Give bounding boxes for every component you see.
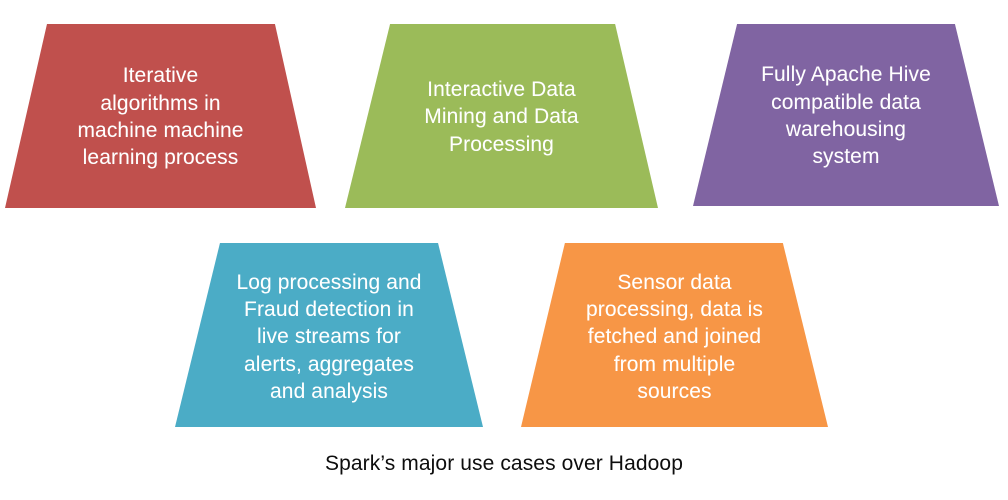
trapezoid-label-hive-warehousing: Fully Apache Hive compatible data wareho…	[755, 61, 937, 170]
trapezoid-sensor-data-processing[interactable]: Sensor data processing, data is fetched …	[521, 243, 828, 427]
trapezoid-label-interactive-data-mining: Interactive Data Mining and Data Process…	[418, 76, 584, 158]
trapezoid-interactive-data-mining[interactable]: Interactive Data Mining and Data Process…	[345, 24, 658, 208]
diagram-caption: Spark’s major use cases over Hadoop	[0, 452, 1008, 476]
trapezoid-label-sensor-data-processing: Sensor data processing, data is fetched …	[580, 269, 769, 405]
diagram-canvas: Iterative algorithms in machine machine …	[0, 0, 1008, 500]
trapezoid-log-fraud-detection[interactable]: Log processing and Fraud detection in li…	[175, 243, 483, 427]
trapezoid-label-iterative-algorithms: Iterative algorithms in machine machine …	[71, 62, 249, 171]
trapezoid-iterative-algorithms[interactable]: Iterative algorithms in machine machine …	[5, 24, 316, 208]
trapezoid-label-log-fraud-detection: Log processing and Fraud detection in li…	[230, 269, 427, 405]
trapezoid-hive-warehousing[interactable]: Fully Apache Hive compatible data wareho…	[693, 24, 999, 206]
